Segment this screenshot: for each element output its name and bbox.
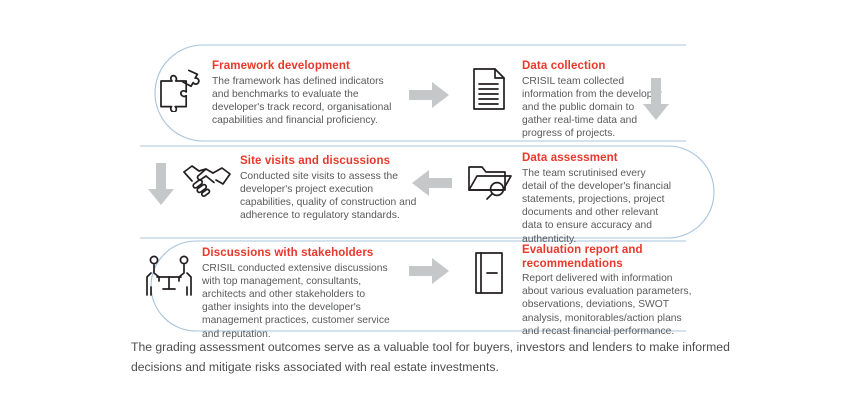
step-title: Discussions with stakeholders [202,247,392,261]
step-text-data-assessment: Data assessment The team scrutinised eve… [516,152,672,246]
step-body: Conducted site visits to assess the deve… [240,170,420,223]
step-body: CRISIL team collected information from t… [522,75,662,141]
step-card-site-visits-and-discussions: Site visits and discussions Conducted si… [180,155,420,222]
step-body: Report delivered with information about … [522,272,692,338]
step-text-framework-development: Framework development The framework has … [206,60,392,127]
step-body: The framework has defined indicators and… [212,75,392,128]
step-text-site-visits-and-discussions: Site visits and discussions Conducted si… [234,155,420,222]
arrow-site-visits-to-discussions [148,163,174,210]
document-page-icon [462,60,516,112]
summary-caption: The grading assessment outcomes serve as… [131,337,731,377]
report-book-icon [462,244,516,296]
step-title: Evaluation report and recommendations [522,244,692,271]
arrow-framework-to-data-collection [409,82,449,113]
step-text-discussions-with-stakeholders: Discussions with stakeholders CRISIL con… [196,247,392,341]
step-title: Data assessment [522,152,672,166]
step-title: Data collection [522,60,662,74]
summary-caption-line-2: decisions and mitigate risks associated … [131,357,731,377]
step-card-evaluation-report-and-recommendations: Evaluation report and recommendations Re… [462,244,692,338]
arrow-data-assessment-to-site-visits [412,170,452,201]
handshake-icon [180,155,234,201]
arrow-data-collection-to-data-assessment [643,78,669,125]
step-card-data-collection: Data collection CRISIL team collected in… [462,60,662,141]
folder-magnifier-icon [462,152,516,202]
step-title: Site visits and discussions [240,155,420,169]
diagram-canvas: Framework development The framework has … [0,0,847,400]
step-title: Framework development [212,60,392,74]
step-card-discussions-with-stakeholders: Discussions with stakeholders CRISIL con… [142,247,392,341]
step-body: The team scrutinised every detail of the… [522,167,672,246]
two-people-at-table-icon [142,247,196,297]
step-card-data-assessment: Data assessment The team scrutinised eve… [462,152,672,246]
step-text-data-collection: Data collection CRISIL team collected in… [516,60,662,141]
summary-caption-line-1: The grading assessment outcomes serve as… [131,337,731,357]
step-card-framework-development: Framework development The framework has … [152,60,392,127]
step-text-evaluation-report-and-recommendations: Evaluation report and recommendations Re… [516,244,692,338]
puzzle-pieces-icon [152,60,206,112]
arrow-discussions-to-evaluation-report [409,258,449,289]
step-body: CRISIL conducted extensive discussions w… [202,262,392,341]
